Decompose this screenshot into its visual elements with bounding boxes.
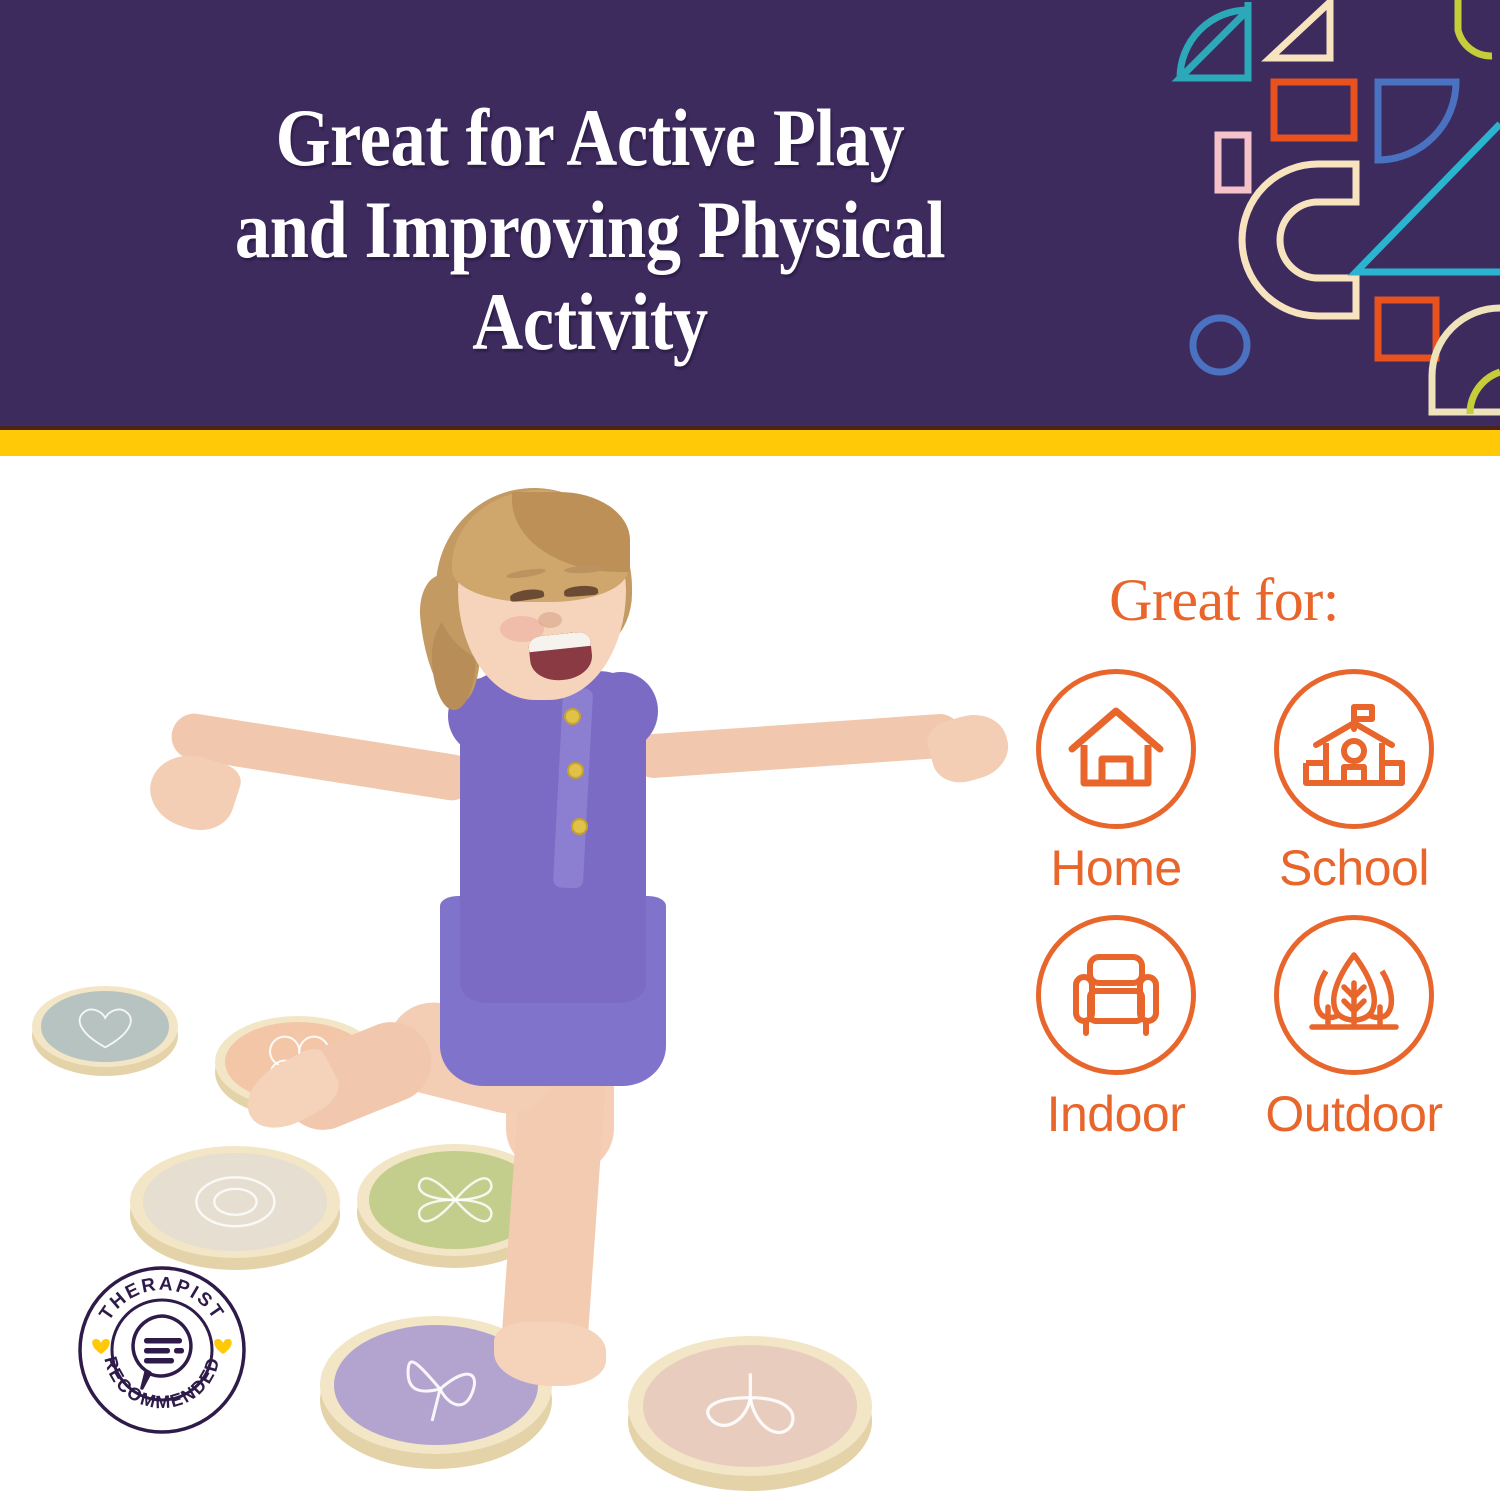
indoor-circle bbox=[1036, 915, 1196, 1075]
child-nose bbox=[538, 612, 562, 628]
list-item bbox=[130, 1146, 340, 1268]
great-for-title: Great for: bbox=[1000, 566, 1470, 635]
orange-square-icon bbox=[1378, 300, 1436, 358]
bubble-line bbox=[174, 1348, 184, 1354]
bubble-line bbox=[144, 1338, 182, 1344]
great-for-label: Outdoor bbox=[1248, 1085, 1460, 1143]
great-for-label: School bbox=[1248, 839, 1460, 897]
blue-circle-icon bbox=[1193, 318, 1247, 372]
teal-quarter-arc-icon bbox=[1180, 2, 1248, 78]
armchair-icon bbox=[1066, 949, 1166, 1041]
schoolhouse-icon bbox=[1302, 701, 1406, 797]
product-photo-area: Great for: Home bbox=[0, 456, 1500, 1476]
great-for-panel: Great for: Home bbox=[1000, 566, 1470, 1161]
child-dress-bodice bbox=[460, 671, 646, 1003]
blue-quarter-round-icon bbox=[1378, 82, 1456, 160]
cream-quarter-arc-icon bbox=[1432, 308, 1500, 412]
child-right-arm bbox=[631, 713, 963, 780]
two-leaf-pattern-icon bbox=[643, 1345, 858, 1467]
great-for-icon-grid: Home School bbox=[1000, 669, 1470, 1161]
list-item bbox=[628, 1336, 872, 1488]
yellow-accent-bar bbox=[0, 430, 1500, 456]
school-circle bbox=[1274, 669, 1434, 829]
pink-small-rectangle-icon bbox=[1218, 135, 1248, 190]
great-for-label: Home bbox=[1010, 839, 1222, 897]
header-banner: Great for Active Play and Improving Phys… bbox=[0, 0, 1500, 426]
lime-quarter-arc-icon bbox=[1470, 372, 1500, 414]
dress-button bbox=[571, 818, 588, 835]
trees-icon bbox=[1302, 947, 1406, 1043]
dress-button bbox=[567, 762, 584, 779]
status-badge: THERAPIST RECOMMENDED bbox=[76, 1264, 248, 1436]
cream-triangle-icon bbox=[1270, 2, 1330, 58]
great-for-item-home[interactable]: Home bbox=[1010, 669, 1222, 897]
house-icon bbox=[1066, 703, 1166, 795]
dress-button bbox=[564, 708, 581, 725]
cream-c-shape-icon bbox=[1242, 164, 1356, 316]
outdoor-circle bbox=[1274, 915, 1434, 1075]
heart-pattern-icon bbox=[41, 991, 169, 1061]
concentric-rings-pattern-icon bbox=[143, 1153, 328, 1251]
bubble-line bbox=[144, 1358, 174, 1364]
child-standing-foot bbox=[494, 1322, 606, 1386]
home-circle bbox=[1036, 669, 1196, 829]
list-item bbox=[32, 986, 178, 1074]
lime-arc-icon bbox=[1458, 0, 1492, 56]
great-for-label: Indoor bbox=[1010, 1085, 1222, 1143]
child-photo bbox=[140, 466, 1020, 1466]
great-for-item-indoor[interactable]: Indoor bbox=[1010, 915, 1222, 1143]
bubble-line bbox=[144, 1348, 170, 1354]
great-for-item-school[interactable]: School bbox=[1248, 669, 1460, 897]
banner-decoration-shapes bbox=[1170, 0, 1500, 426]
great-for-item-outdoor[interactable]: Outdoor bbox=[1248, 915, 1460, 1143]
page-title: Great for Active Play and Improving Phys… bbox=[83, 92, 1098, 367]
orange-rectangle-icon bbox=[1274, 82, 1354, 138]
